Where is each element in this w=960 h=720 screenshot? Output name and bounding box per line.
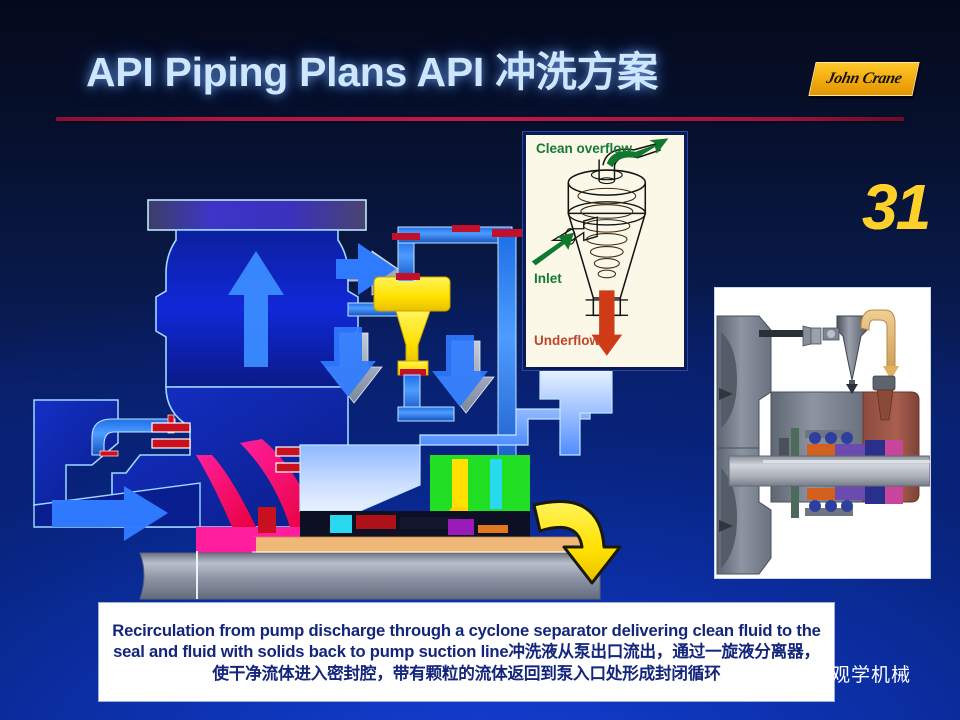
shaft-sleeve — [252, 537, 590, 553]
control-valve-body — [374, 277, 450, 311]
valve-return-pipe — [398, 407, 454, 421]
flush-port-nut — [873, 376, 895, 390]
slide-number: 31 — [862, 170, 929, 244]
seal-oring — [825, 432, 837, 444]
seal-oring — [809, 500, 821, 512]
seal-port-cyan — [490, 459, 502, 509]
valve-flange-marker — [452, 225, 480, 232]
cyclone-label-inlet: Inlet — [534, 271, 562, 286]
seal-spring — [791, 484, 799, 518]
logo-text: John Crane — [808, 62, 919, 96]
shaft-keyline — [196, 551, 198, 599]
john-crane-logo: John Crane — [812, 62, 916, 96]
cyclone-diagram — [526, 135, 678, 361]
discharge-flange — [148, 200, 366, 230]
seal-oring — [841, 432, 853, 444]
seal-part-flange-red — [258, 507, 276, 533]
inlet-arrow — [532, 233, 574, 266]
wechat-icon — [770, 661, 804, 687]
seal-cutaway-illustration — [714, 287, 931, 579]
caption-text: Recirculation from pump discharge throug… — [107, 620, 826, 685]
pipe-flange-marker — [492, 229, 522, 237]
seal-part-cyan — [330, 515, 352, 533]
seal-supply-pipe — [498, 235, 516, 489]
seal-part-red — [356, 515, 396, 529]
seal-part-orange — [478, 525, 508, 533]
cyclone-separator-inset: Clean overflow Inlet Underflow — [523, 132, 687, 370]
shaft-highlight — [252, 551, 590, 553]
tap-line — [759, 330, 805, 337]
seal-part-purple — [448, 519, 474, 535]
valve-flange-marker — [392, 233, 420, 240]
cyclone-label-clean-overflow: Clean overflow — [536, 141, 632, 156]
fitting-nut — [827, 330, 835, 338]
valve-flange-marker — [396, 273, 420, 280]
page-title: API Piping Plans API 冲洗方案 — [86, 38, 658, 98]
slide-canvas: API Piping Plans API 冲洗方案 John Crane 31 — [0, 0, 960, 720]
seal-oring — [809, 432, 821, 444]
seal-oring — [825, 500, 837, 512]
title-divider — [56, 117, 904, 121]
seal-face-orange — [807, 488, 835, 500]
seal-spring-yellow — [452, 459, 468, 511]
seal-sleeve-collar — [779, 438, 789, 456]
pump-shaft — [140, 553, 600, 599]
seal-face-orange — [807, 444, 835, 456]
seal-cutaway-svg — [715, 288, 930, 578]
control-valve-stem — [396, 311, 430, 367]
watermark-text: 直观学机械 — [811, 660, 911, 687]
casing-bolt-marker — [152, 423, 190, 432]
seal-oring — [841, 500, 853, 512]
tap-nut — [811, 328, 821, 344]
casing-bolt-marker — [152, 439, 190, 448]
cyclone-label-underflow: Underflow — [534, 333, 600, 348]
watermark: 直观学机械 — [770, 660, 911, 687]
clean-flush-pipe — [861, 310, 895, 368]
flange-marker — [100, 451, 118, 456]
caption-box: Recirculation from pump discharge throug… — [98, 602, 835, 702]
stuffing-box-cone — [300, 445, 420, 511]
shaft-highlight — [763, 460, 930, 463]
